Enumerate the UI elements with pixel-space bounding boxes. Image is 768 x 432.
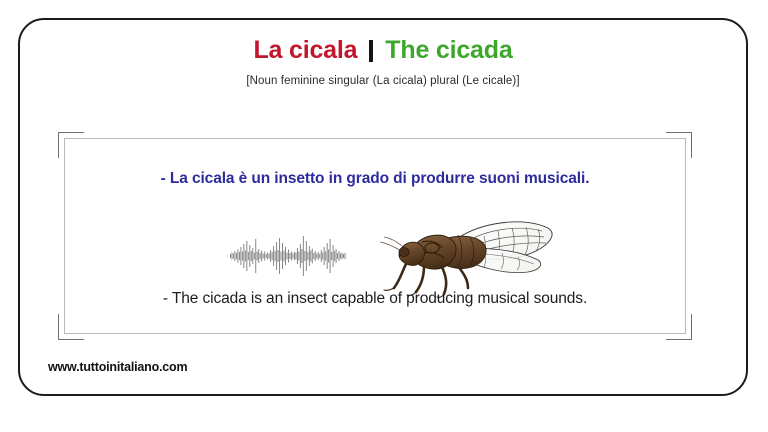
page-title-english: The cicada — [385, 38, 512, 63]
card-header: La cicala The cicada [Noun feminine sing… — [20, 38, 746, 87]
corner-bracket-bottom-right — [666, 314, 692, 340]
title-separator-icon — [369, 40, 373, 62]
cicada-illustration — [380, 210, 556, 302]
corner-bracket-bottom-left — [58, 314, 84, 340]
example-sentence-english: - The cicada is an insect capable of pro… — [58, 290, 692, 308]
grammar-note: [Noun feminine singular (La cicala) plur… — [20, 75, 746, 87]
media-row — [58, 210, 692, 302]
vocabulary-card: La cicala The cicada [Noun feminine sing… — [18, 18, 748, 396]
corner-bracket-top-right — [666, 132, 692, 158]
audio-waveform-icon — [230, 228, 346, 284]
website-url: www.tuttoinitaliano.com — [48, 360, 187, 374]
corner-bracket-top-left — [58, 132, 84, 158]
page-title-italian: La cicala — [253, 38, 357, 63]
title-row: La cicala The cicada — [20, 38, 746, 63]
example-sentence-italian: - La cicala è un insetto in grado di pro… — [58, 170, 692, 188]
example-frame: - La cicala è un insetto in grado di pro… — [58, 132, 692, 340]
